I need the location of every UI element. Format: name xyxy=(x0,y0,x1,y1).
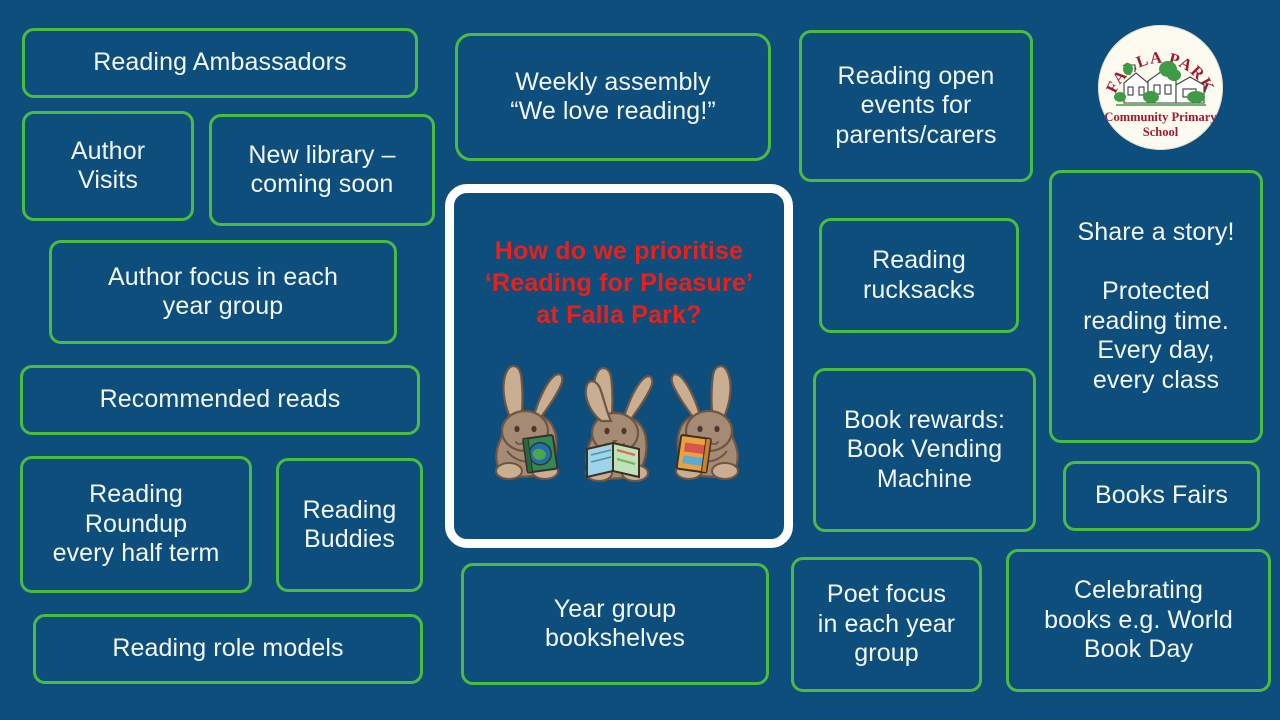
box-year-group-bookshelves[interactable]: Year group bookshelves xyxy=(461,563,769,685)
box-share-a-story[interactable]: Share a story! Protected reading time. E… xyxy=(1049,170,1263,443)
central-question-card: How do we prioritise ‘Reading for Pleasu… xyxy=(445,184,793,548)
box-poet-focus[interactable]: Poet focus in each year group xyxy=(791,557,982,692)
box-author-focus[interactable]: Author focus in each year group xyxy=(49,240,397,344)
slide-canvas: Reading Ambassadors Author Visits New li… xyxy=(0,0,1280,720)
box-reading-rucksacks[interactable]: Reading rucksacks xyxy=(819,218,1019,333)
box-new-library[interactable]: New library – coming soon xyxy=(209,114,435,226)
svg-text:School: School xyxy=(1143,125,1179,139)
rabbits-reading-illustration xyxy=(487,353,751,488)
box-weekly-assembly[interactable]: Weekly assembly “We love reading!” xyxy=(455,33,771,161)
svg-text:Community Primary: Community Primary xyxy=(1104,110,1217,124)
box-reading-open-events[interactable]: Reading open events for parents/carers xyxy=(799,30,1033,182)
box-reading-ambassadors[interactable]: Reading Ambassadors xyxy=(22,28,418,98)
box-reading-roundup[interactable]: Reading Roundup every half term xyxy=(20,456,252,593)
box-author-visits[interactable]: Author Visits xyxy=(22,111,194,221)
school-logo: FALLA PARK xyxy=(1098,25,1223,150)
box-book-rewards[interactable]: Book rewards: Book Vending Machine xyxy=(813,368,1036,532)
box-books-fairs[interactable]: Books Fairs xyxy=(1063,461,1260,531)
box-reading-buddies[interactable]: Reading Buddies xyxy=(276,458,423,592)
box-celebrating-books[interactable]: Celebrating books e.g. World Book Day xyxy=(1006,549,1271,692)
box-recommended-reads[interactable]: Recommended reads xyxy=(20,365,420,435)
box-reading-role-models[interactable]: Reading role models xyxy=(33,614,423,684)
central-question-title: How do we prioritise ‘Reading for Pleasu… xyxy=(485,235,753,331)
